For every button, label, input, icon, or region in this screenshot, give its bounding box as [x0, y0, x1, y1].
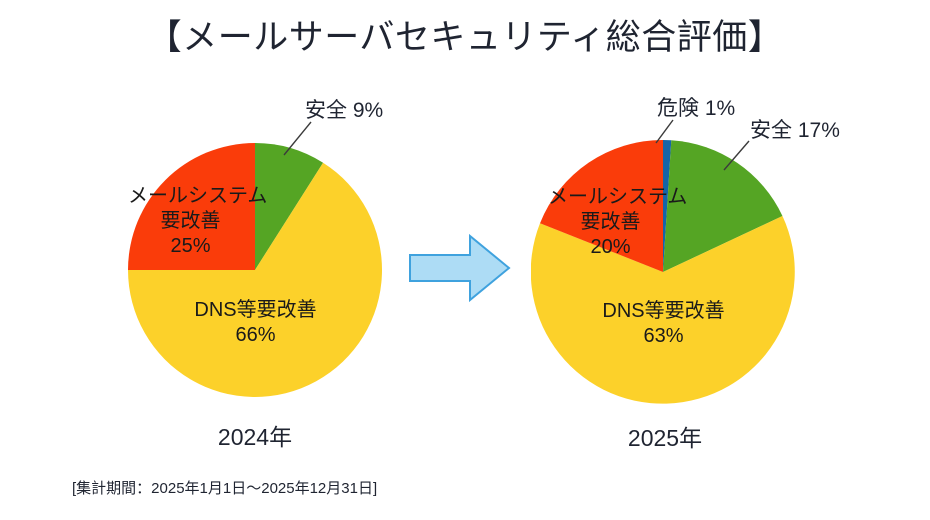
- pie-2025-callout-safe: 安全 17%: [750, 118, 840, 144]
- pie-chart-2024: [128, 143, 382, 397]
- pie-2025-callout-danger: 危険 1%: [657, 96, 735, 122]
- pie-2024-year-label: 2024年: [155, 423, 355, 451]
- page-title: 【メールサーバセキュリティ総合評価】: [0, 16, 930, 60]
- pie-2024-slice-mail[interactable]: [128, 143, 255, 270]
- pie-2024-callout-safe: 安全 9%: [305, 98, 383, 124]
- arrow-right-icon: [408, 233, 512, 303]
- pie-chart-2025: [531, 140, 795, 404]
- pie-2024-svg: [128, 143, 382, 397]
- pie-2025-svg: [531, 140, 795, 404]
- aggregation-period-note: [集計期間：2025年1月1日〜2025年12月31日]: [72, 479, 377, 499]
- pie-2025-year-label: 2025年: [565, 424, 765, 452]
